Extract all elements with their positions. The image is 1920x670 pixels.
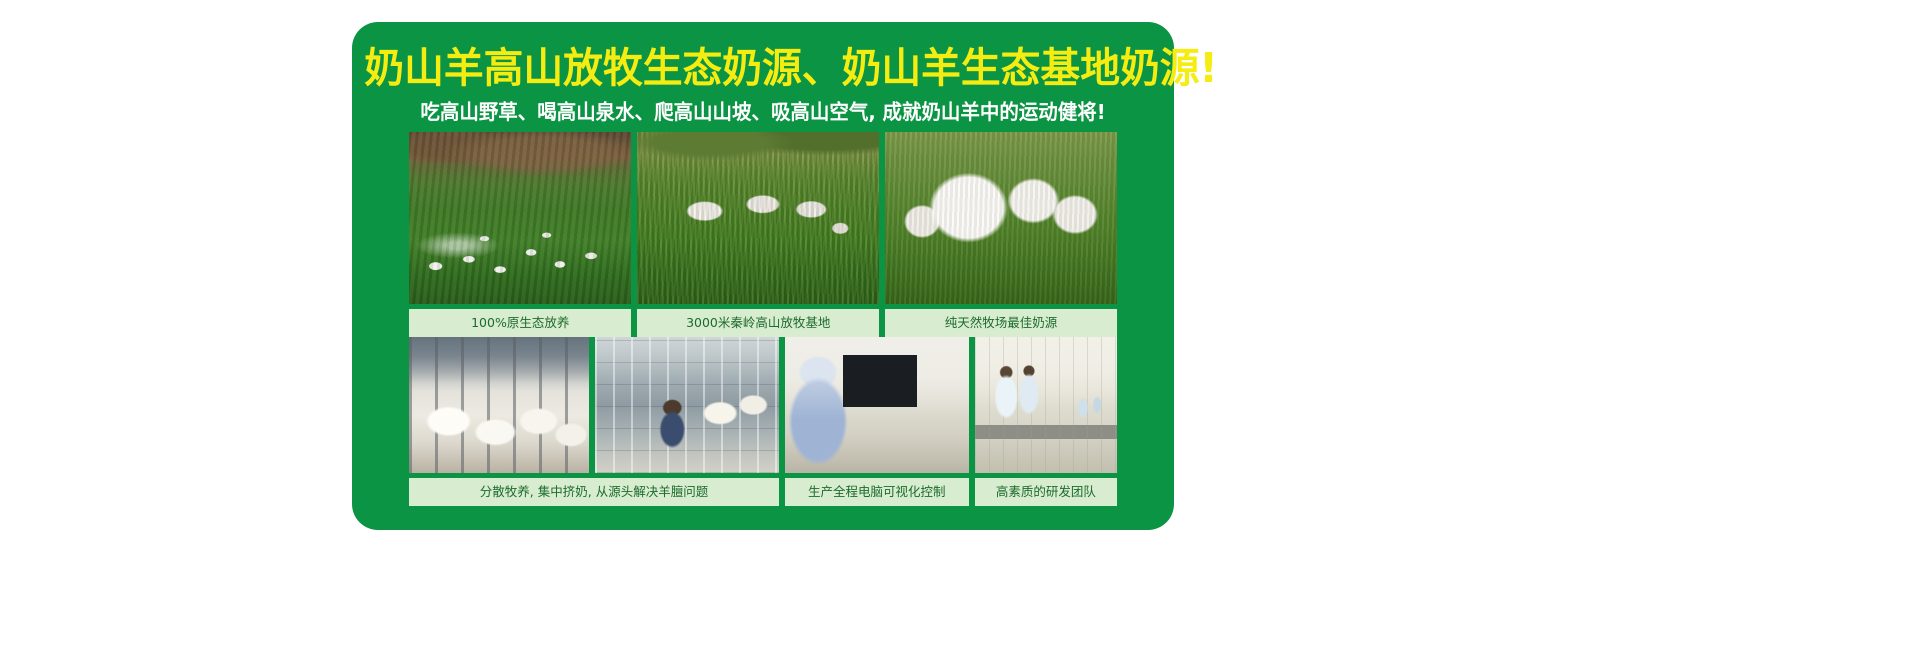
goats-grazing-meadow-photo (637, 132, 879, 304)
banner-subheadline: 吃高山野草、喝高山泉水、爬高山山坡、吸高山空气, 成就奶山羊中的运动健将! (373, 98, 1154, 126)
banner-headline: 奶山羊高山放牧生态奶源、奶山羊生态基地奶源! (364, 44, 1161, 92)
photo-card-laboratory-team: 高素质的研发团队 (975, 337, 1117, 506)
computer-control-room-photo (785, 337, 969, 473)
caption-computer-control: 生产全程电脑可视化控制 (785, 478, 969, 506)
caption-hillside-pasture: 100%原生态放养 (409, 309, 631, 337)
photo-card-white-goat-kids: 纯天然牧场最佳奶源 (885, 132, 1117, 337)
photo-card-computer-control: 生产全程电脑可视化控制 (785, 337, 969, 506)
pasture-photo-row: 100%原生态放养 3000米秦岭高山放牧基地 纯天然牧场最佳奶源 (409, 132, 1117, 337)
caption-goats-grazing: 3000米秦岭高山放牧基地 (637, 309, 879, 337)
caption-laboratory-team: 高素质的研发团队 (975, 478, 1117, 506)
white-goat-and-kids-photo (885, 132, 1117, 304)
facility-photo-row: 分散牧养, 集中挤奶, 从源头解决羊膻问题 生产全程电脑可视化控制 高素质的研发… (409, 337, 1117, 506)
barn-feeding-rail-goats-photo (409, 337, 589, 473)
photo-card-goats-grazing: 3000米秦岭高山放牧基地 (637, 132, 879, 337)
photo-card-hillside-pasture: 100%原生态放养 (409, 132, 631, 337)
page-root: 奶山羊高山放牧生态奶源、奶山羊生态基地奶源! 吃高山野草、喝高山泉水、爬高山山坡… (0, 0, 1920, 670)
caption-white-goat-kids: 纯天然牧场最佳奶源 (885, 309, 1117, 337)
laboratory-research-team-photo (975, 337, 1117, 473)
milking-parlour-photo (595, 337, 779, 473)
photo-card-barn-feeding: 分散牧养, 集中挤奶, 从源头解决羊膻问题 (409, 337, 589, 506)
hillside-pasture-goats-photo (409, 132, 631, 304)
promotional-banner-panel: 奶山羊高山放牧生态奶源、奶山羊生态基地奶源! 吃高山野草、喝高山泉水、爬高山山坡… (352, 22, 1174, 530)
photo-card-milking-parlour (595, 337, 779, 506)
